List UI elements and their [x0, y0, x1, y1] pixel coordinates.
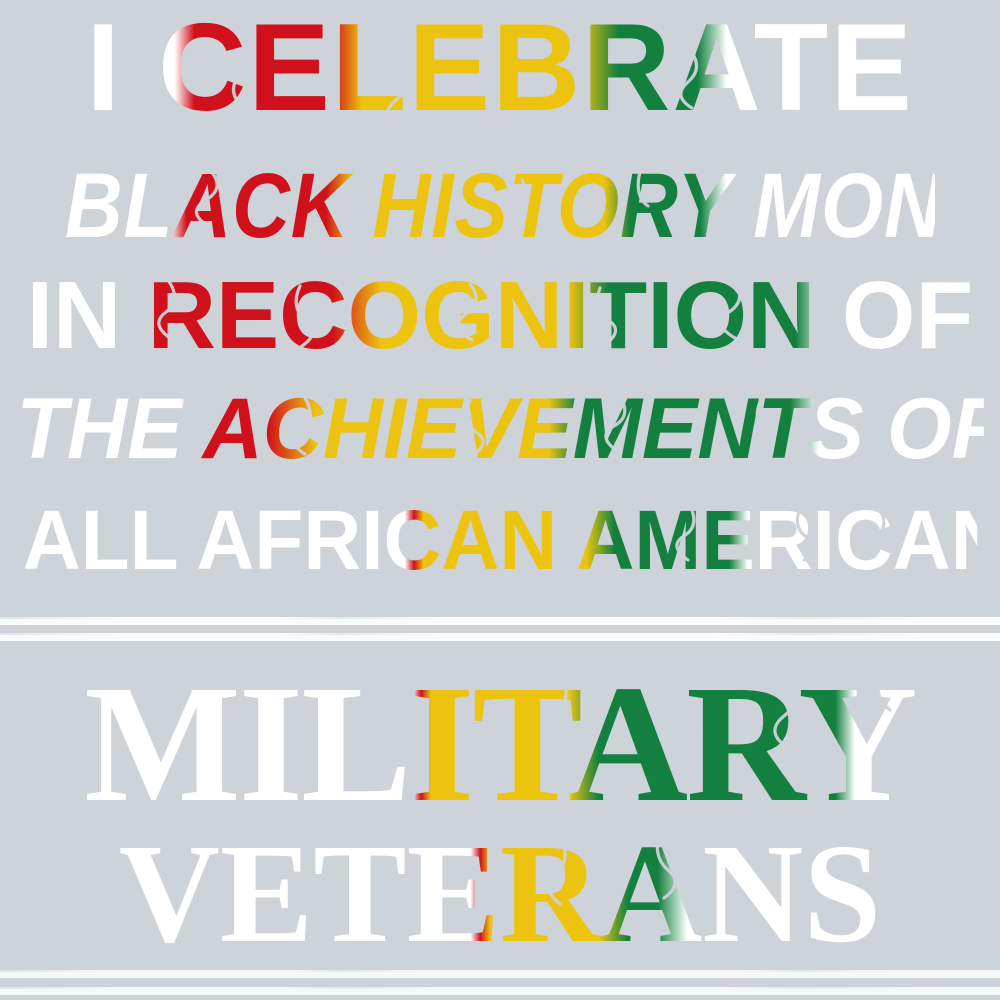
- divider-rule-lower-2: [0, 987, 1000, 995]
- poster-canvas: I CELEBRATE BLACK HISTORY MONTH IN RECOG…: [0, 0, 1000, 1000]
- divider-rule-lower: [0, 970, 1000, 978]
- headline-i-celebrate: I CELEBRATE: [7, 6, 993, 130]
- headline-the-achievements-of: THE ACHIEVEMENTS OF: [16, 386, 984, 472]
- headline-veterans: VETERANS: [7, 822, 993, 964]
- divider-rule-upper: [0, 617, 1000, 625]
- headline-black-history-month: BLACK HISTORY MONTH: [65, 160, 935, 252]
- headline-all-african-american: ALL AFRICAN AMERICAN: [23, 498, 978, 582]
- headline-military: MILITARY: [7, 660, 993, 828]
- headline-in-recognition-of: IN RECOGNITION OF: [7, 268, 993, 364]
- divider-rule-upper-2: [0, 633, 1000, 641]
